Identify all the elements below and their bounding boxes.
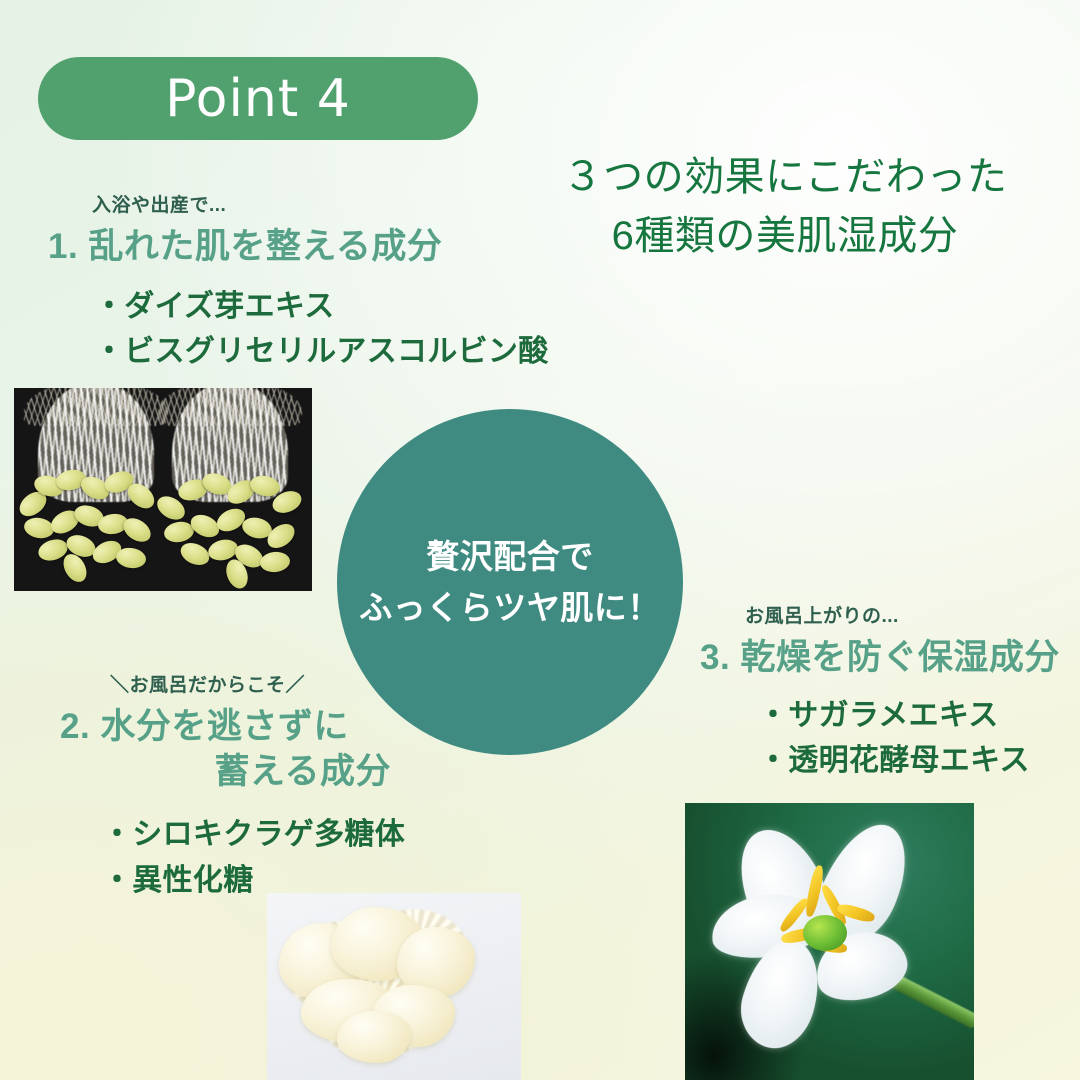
ingredient-section-1: 入浴や出産で... 1. 乱れた肌を整える成分 ・ダイズ芽エキス ・ビスグリセリ… bbox=[48, 196, 549, 375]
point-badge-label: Point 4 bbox=[165, 73, 351, 125]
white-flower-photo bbox=[685, 803, 974, 1080]
section-2-caption: ＼お風呂だからこそ／ bbox=[110, 676, 405, 697]
sprout-bundle-right bbox=[154, 388, 304, 591]
section-3-caption: お風呂上がりの... bbox=[745, 607, 1060, 628]
section-1-caption: 入浴や出産で... bbox=[92, 196, 549, 217]
section-1-bullet-list: ・ダイズ芽エキス ・ビスグリセリルアスコルビン酸 bbox=[94, 284, 549, 375]
infographic-poster: Point 4 ３つの効果にこだわった 6種類の美肌湿成分 bbox=[0, 0, 1080, 1080]
headline-line-2: 6種類の美肌湿成分 bbox=[520, 207, 1050, 266]
headline: ３つの効果にこだわった 6種類の美肌湿成分 bbox=[520, 148, 1050, 266]
list-item: ・ビスグリセリルアスコルビン酸 bbox=[94, 329, 549, 375]
list-item: ・ダイズ芽エキス bbox=[94, 284, 549, 330]
headline-line-1: ３つの効果にこだわった bbox=[563, 155, 1008, 199]
list-item: ・シロキクラゲ多糖体 bbox=[102, 812, 405, 858]
list-item: ・異性化糖 bbox=[102, 858, 405, 904]
point-badge: Point 4 bbox=[38, 57, 478, 140]
circle-text-line-1: 贅沢配合で bbox=[426, 531, 594, 582]
section-2-heading-line-2: 蓄える成分 bbox=[60, 750, 405, 795]
section-2-heading: 2. 水分を逃さずに 蓄える成分 bbox=[60, 705, 405, 795]
list-item: ・透明花酵母エキス bbox=[758, 738, 1060, 784]
white-fungus-photo bbox=[267, 893, 521, 1080]
fungus-lobe bbox=[337, 1011, 411, 1063]
soybean-sprouts-photo bbox=[14, 388, 312, 591]
section-2-heading-line-1: 2. 水分を逃さずに bbox=[60, 707, 349, 746]
section-3-bullet-list: ・サガラメエキス ・透明花酵母エキス bbox=[758, 693, 1060, 784]
ingredient-section-3: お風呂上がりの... 3. 乾燥を防ぐ保湿成分 ・サガラメエキス ・透明花酵母エ… bbox=[700, 607, 1060, 784]
section-3-heading: 3. 乾燥を防ぐ保湿成分 bbox=[700, 636, 1060, 681]
circle-text-line-2: ふっくらツヤ肌に！ bbox=[359, 582, 661, 633]
section-2-bullet-list: ・シロキクラゲ多糖体 ・異性化糖 bbox=[102, 812, 405, 903]
section-1-heading: 1. 乱れた肌を整える成分 bbox=[48, 225, 549, 270]
sprout-bean-heads bbox=[150, 468, 312, 580]
ingredient-section-2: ＼お風呂だからこそ／ 2. 水分を逃さずに 蓄える成分 ・シロキクラゲ多糖体 ・… bbox=[60, 676, 405, 904]
list-item: ・サガラメエキス bbox=[758, 693, 1060, 739]
sprout-bundle-left bbox=[20, 388, 170, 591]
flower-pistil bbox=[803, 915, 847, 951]
